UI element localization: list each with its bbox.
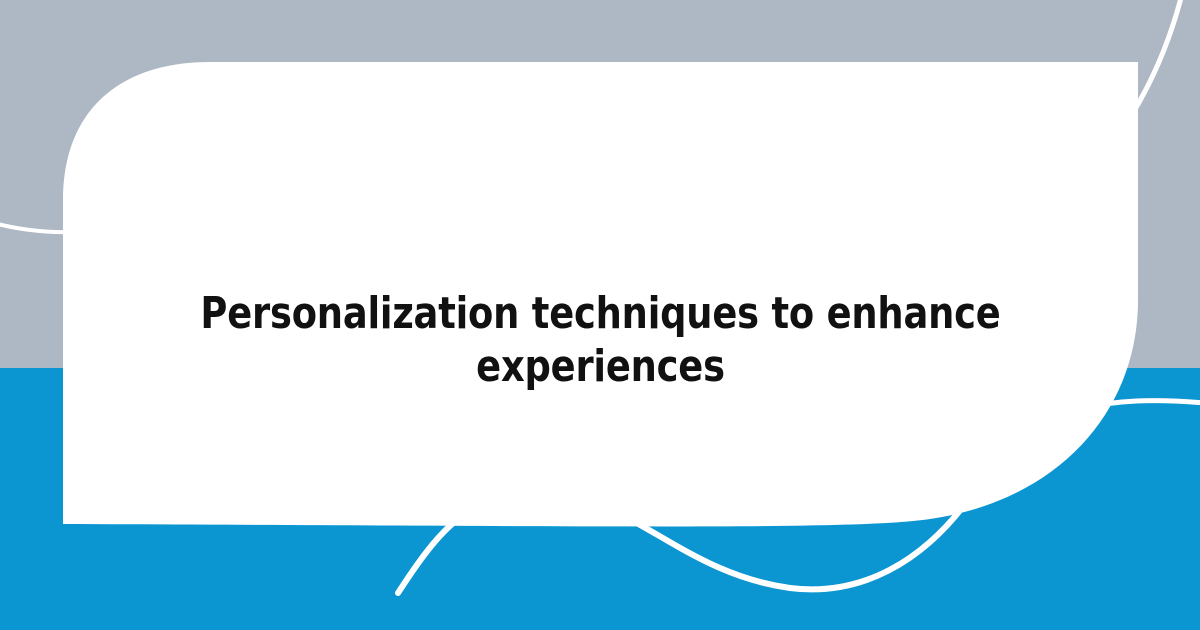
right-wave-line (1090, 401, 1200, 407)
page-title: Personalization techniques to enhance ex… (101, 287, 1101, 393)
social-share-banner: Personalization techniques to enhance ex… (0, 0, 1200, 630)
